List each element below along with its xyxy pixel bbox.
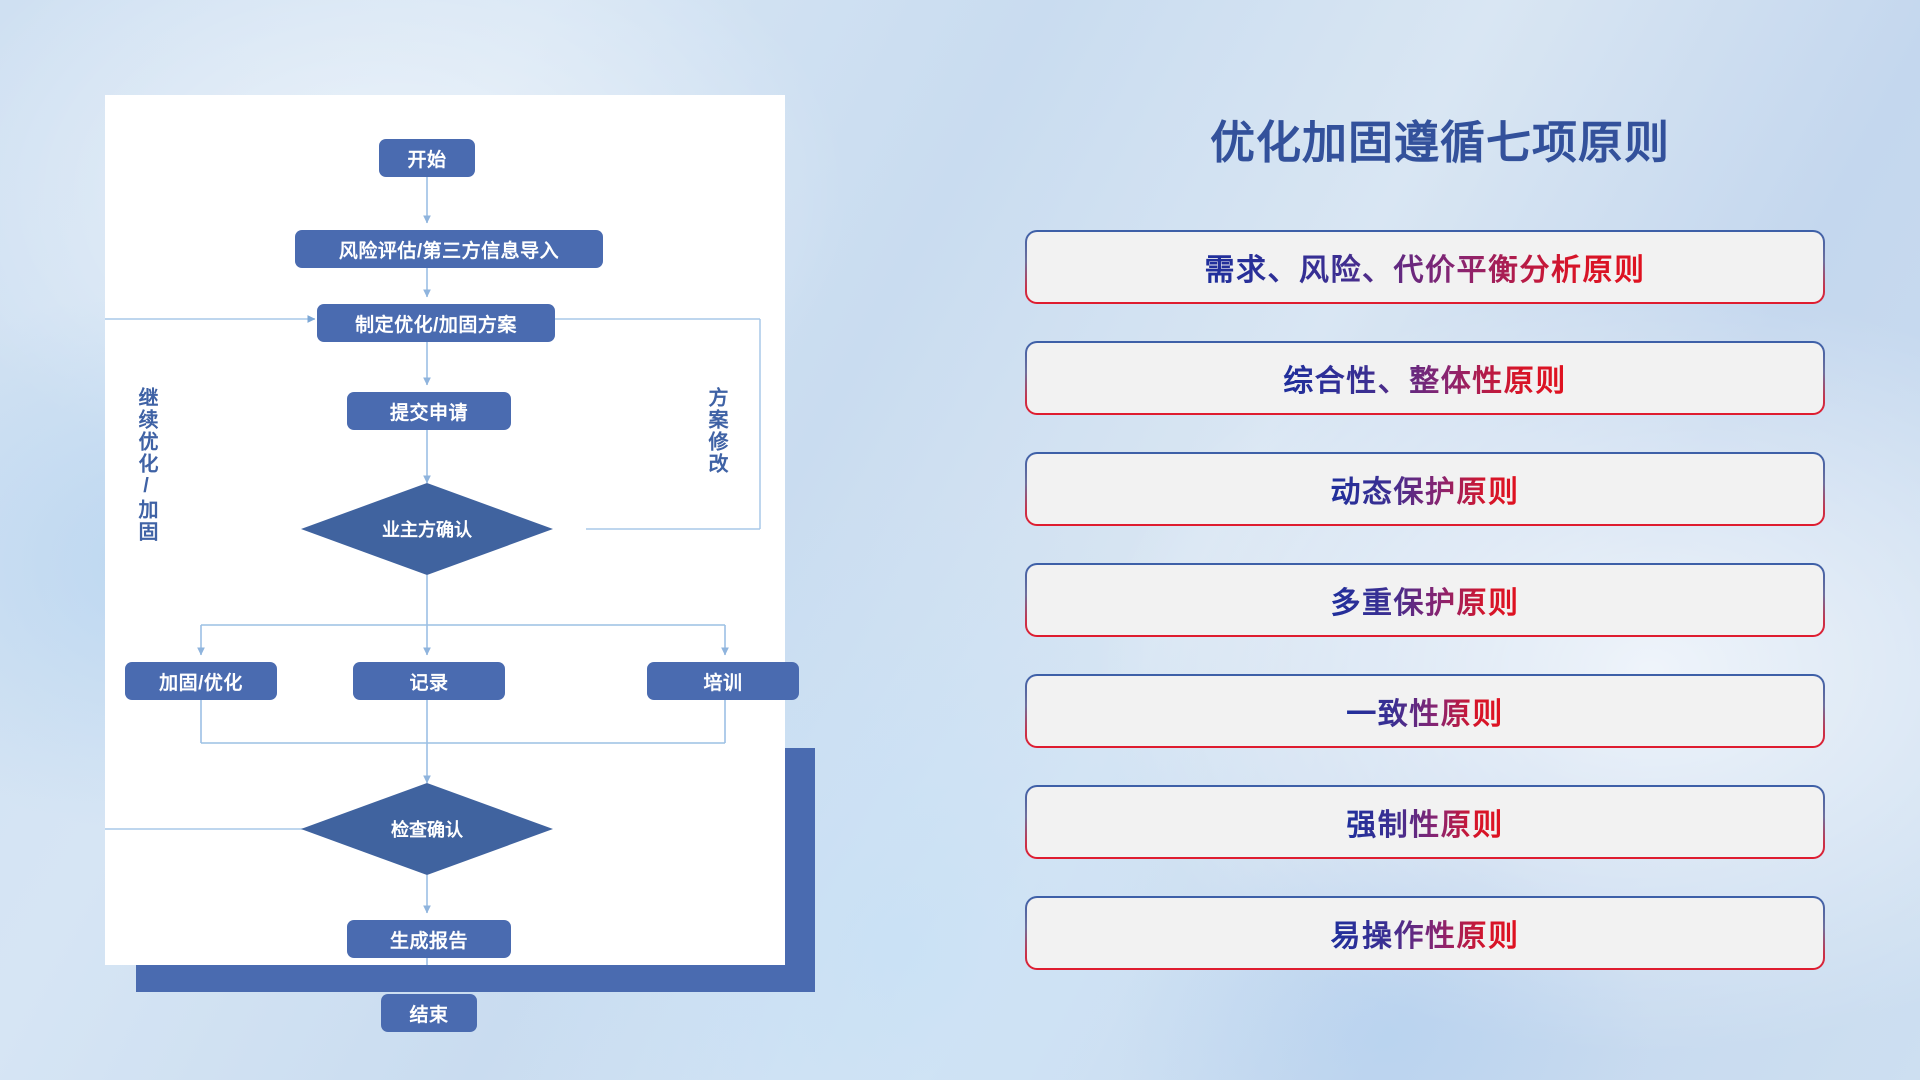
- flow-node-label: 开始: [407, 145, 446, 172]
- flow-node-label: 提交申请: [390, 398, 468, 425]
- principle-card-inner: 综合性、整体性原则: [1027, 343, 1823, 413]
- principle-card-inner: 多重保护原则: [1027, 565, 1823, 635]
- principle-card[interactable]: 强制性原则: [1025, 785, 1825, 859]
- principle-card[interactable]: 综合性、整体性原则: [1025, 341, 1825, 415]
- principle-card-label: 多重保护原则: [1331, 578, 1520, 622]
- principle-card[interactable]: 易操作性原则: [1025, 896, 1825, 970]
- flow-node-label: 制定优化/加固方案: [355, 310, 517, 337]
- flowchart-panel: 开始 风险评估/第三方信息导入 制定优化/加固方案 提交申请 业主方确认 加固/…: [105, 95, 785, 965]
- flow-node-label: 检查确认: [391, 816, 463, 842]
- flow-node-label: 风险评估/第三方信息导入: [339, 236, 559, 263]
- flow-node-reinforce-optimise[interactable]: 加固/优化: [125, 662, 277, 700]
- flow-node-generate-report[interactable]: 生成报告: [347, 920, 511, 958]
- principle-card-inner: 易操作性原则: [1027, 898, 1823, 968]
- principle-card-inner: 动态保护原则: [1027, 454, 1823, 524]
- principle-card-inner: 强制性原则: [1027, 787, 1823, 857]
- principles-panel: 优化加固遵循七项原则 需求、风险、代价平衡分析原则 综合性、整体性原则 动态保护…: [1020, 0, 1860, 1080]
- principle-card-label: 需求、风险、代价平衡分析原则: [1205, 245, 1646, 289]
- slide-canvas: 开始 风险评估/第三方信息导入 制定优化/加固方案 提交申请 业主方确认 加固/…: [0, 0, 1920, 1080]
- flow-node-risk-assessment[interactable]: 风险评估/第三方信息导入: [295, 230, 603, 268]
- flow-node-label: 加固/优化: [159, 668, 243, 695]
- principle-card-label: 一致性原则: [1346, 689, 1504, 733]
- principle-card-inner: 需求、风险、代价平衡分析原则: [1027, 232, 1823, 302]
- flow-node-label: 生成报告: [390, 926, 468, 953]
- principle-card-inner: 一致性原则: [1027, 676, 1823, 746]
- page-title: 优化加固遵循七项原则: [1020, 106, 1860, 171]
- principle-card-label: 综合性、整体性原则: [1283, 356, 1567, 400]
- flow-node-label: 业主方确认: [382, 516, 472, 542]
- principle-card-label: 动态保护原则: [1331, 467, 1520, 511]
- principle-card-label: 强制性原则: [1346, 800, 1504, 844]
- flow-edge-label-continue-optimise: 继续优化/加固: [135, 387, 156, 543]
- flow-node-end[interactable]: 结束: [381, 994, 477, 1032]
- principle-card[interactable]: 动态保护原则: [1025, 452, 1825, 526]
- flow-node-label: 记录: [409, 668, 448, 695]
- principle-card-list: 需求、风险、代价平衡分析原则 综合性、整体性原则 动态保护原则 多重保护原则: [1025, 230, 1825, 1007]
- flow-node-plan[interactable]: 制定优化/加固方案: [317, 304, 555, 342]
- flow-node-label: 培训: [703, 668, 742, 695]
- flow-node-record[interactable]: 记录: [353, 662, 505, 700]
- principle-card[interactable]: 需求、风险、代价平衡分析原则: [1025, 230, 1825, 304]
- principle-card[interactable]: 多重保护原则: [1025, 563, 1825, 637]
- flow-node-submit-application[interactable]: 提交申请: [347, 392, 511, 430]
- flow-edge-label-scheme-revision: 方案修改: [705, 387, 726, 475]
- principle-card[interactable]: 一致性原则: [1025, 674, 1825, 748]
- principle-card-label: 易操作性原则: [1331, 911, 1520, 955]
- flow-node-training[interactable]: 培训: [647, 662, 799, 700]
- flow-node-label: 结束: [409, 1000, 448, 1027]
- flow-node-start[interactable]: 开始: [379, 139, 475, 177]
